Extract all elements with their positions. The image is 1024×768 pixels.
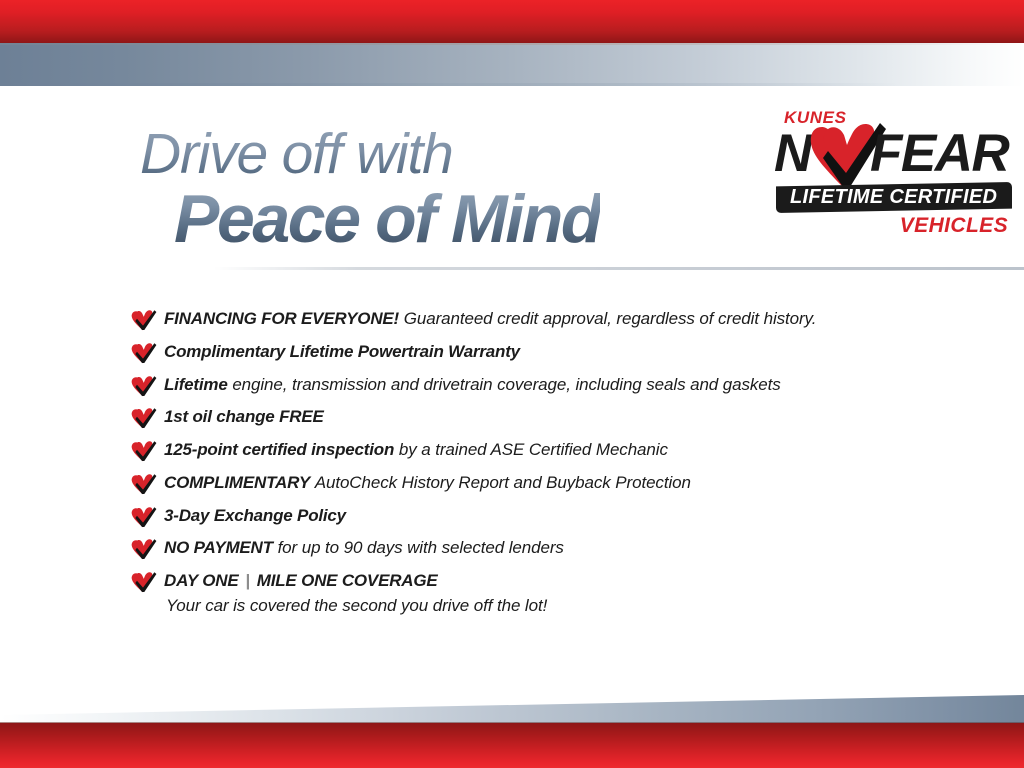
- list-item: Lifetime engine, transmission and drivet…: [131, 374, 931, 396]
- list-item: 1st oil change FREE: [131, 406, 931, 428]
- list-item: Complimentary Lifetime Powertrain Warran…: [131, 341, 931, 363]
- list-item-bold-text: Lifetime: [164, 375, 228, 394]
- list-item-bold-text: 1st oil change FREE: [164, 407, 324, 426]
- logo-word-fear: FEAR: [870, 125, 1008, 183]
- list-item: DAY ONE | MILE ONE COVERAGE Your car is …: [131, 570, 931, 617]
- kunes-no-fear-logo: KUNES N FEAR LIFETIME CERTIFIED VEHICLES: [772, 108, 1016, 243]
- list-item-bold-text: 125-point certified inspection: [164, 440, 394, 459]
- list-item-regular-text: for up to 90 days with selected lenders: [278, 538, 564, 557]
- headline-line-1: Drive off with: [140, 126, 600, 183]
- heart-check-icon: [131, 408, 157, 429]
- list-item-bold-text-2: MILE ONE COVERAGE: [257, 571, 438, 590]
- list-item-sub-text: Your car is covered the second you drive…: [166, 595, 931, 617]
- promo-page: Drive off with Peace of Mind KUNES N FEA…: [0, 0, 1024, 768]
- list-item-bold-text: Complimentary Lifetime Powertrain Warran…: [164, 342, 520, 361]
- list-item-regular-text: engine, transmission and drivetrain cove…: [232, 375, 780, 394]
- list-item: FINANCING FOR EVERYONE! Guaranteed credi…: [131, 308, 931, 330]
- list-item-bold-text: 3-Day Exchange Policy: [164, 506, 346, 525]
- list-item: NO PAYMENT for up to 90 days with select…: [131, 537, 931, 559]
- header-divider: [214, 267, 1024, 270]
- heart-check-icon: [131, 310, 157, 331]
- heart-check-icon: [131, 507, 157, 528]
- heart-check-icon: [131, 572, 157, 593]
- logo-wordmark: N FEAR: [772, 125, 1016, 183]
- list-item: 3-Day Exchange Policy: [131, 505, 931, 527]
- list-item: 125-point certified inspection by a trai…: [131, 439, 931, 461]
- list-item-regular-text: by a trained ASE Certified Mechanic: [399, 440, 668, 459]
- logo-letter-n: N: [774, 125, 810, 183]
- list-item-bold-text: NO PAYMENT: [164, 538, 273, 557]
- list-item-bold-text: COMPLIMENTARY: [164, 473, 310, 492]
- top-red-band: [0, 0, 1024, 43]
- list-item-bold-text: DAY ONE: [164, 571, 239, 590]
- list-item-regular-text: AutoCheck History Report and Buyback Pro…: [315, 473, 691, 492]
- heart-check-icon: [131, 441, 157, 462]
- list-item-separator: |: [243, 571, 252, 590]
- heart-check-icon: [131, 539, 157, 560]
- heart-check-icon: [131, 474, 157, 495]
- logo-lifetime-banner: LIFETIME CERTIFIED: [776, 182, 1012, 213]
- logo-vehicles-text: VEHICLES: [900, 214, 1008, 238]
- benefits-list: FINANCING FOR EVERYONE! Guaranteed credi…: [131, 308, 931, 628]
- page-title: Drive off with Peace of Mind: [140, 126, 600, 253]
- logo-lifetime-banner-text: LIFETIME CERTIFIED: [790, 186, 997, 209]
- list-item: COMPLIMENTARY AutoCheck History Report a…: [131, 472, 931, 494]
- list-item-regular-text: Guaranteed credit approval, regardless o…: [404, 309, 817, 328]
- heart-check-icon: [131, 376, 157, 397]
- top-gray-band: [0, 43, 1024, 86]
- list-item-bold-text: FINANCING FOR EVERYONE!: [164, 309, 399, 328]
- headline-line-2: Peace of Mind: [174, 185, 600, 253]
- bottom-red-band: [0, 723, 1024, 768]
- heart-check-icon: [131, 343, 157, 364]
